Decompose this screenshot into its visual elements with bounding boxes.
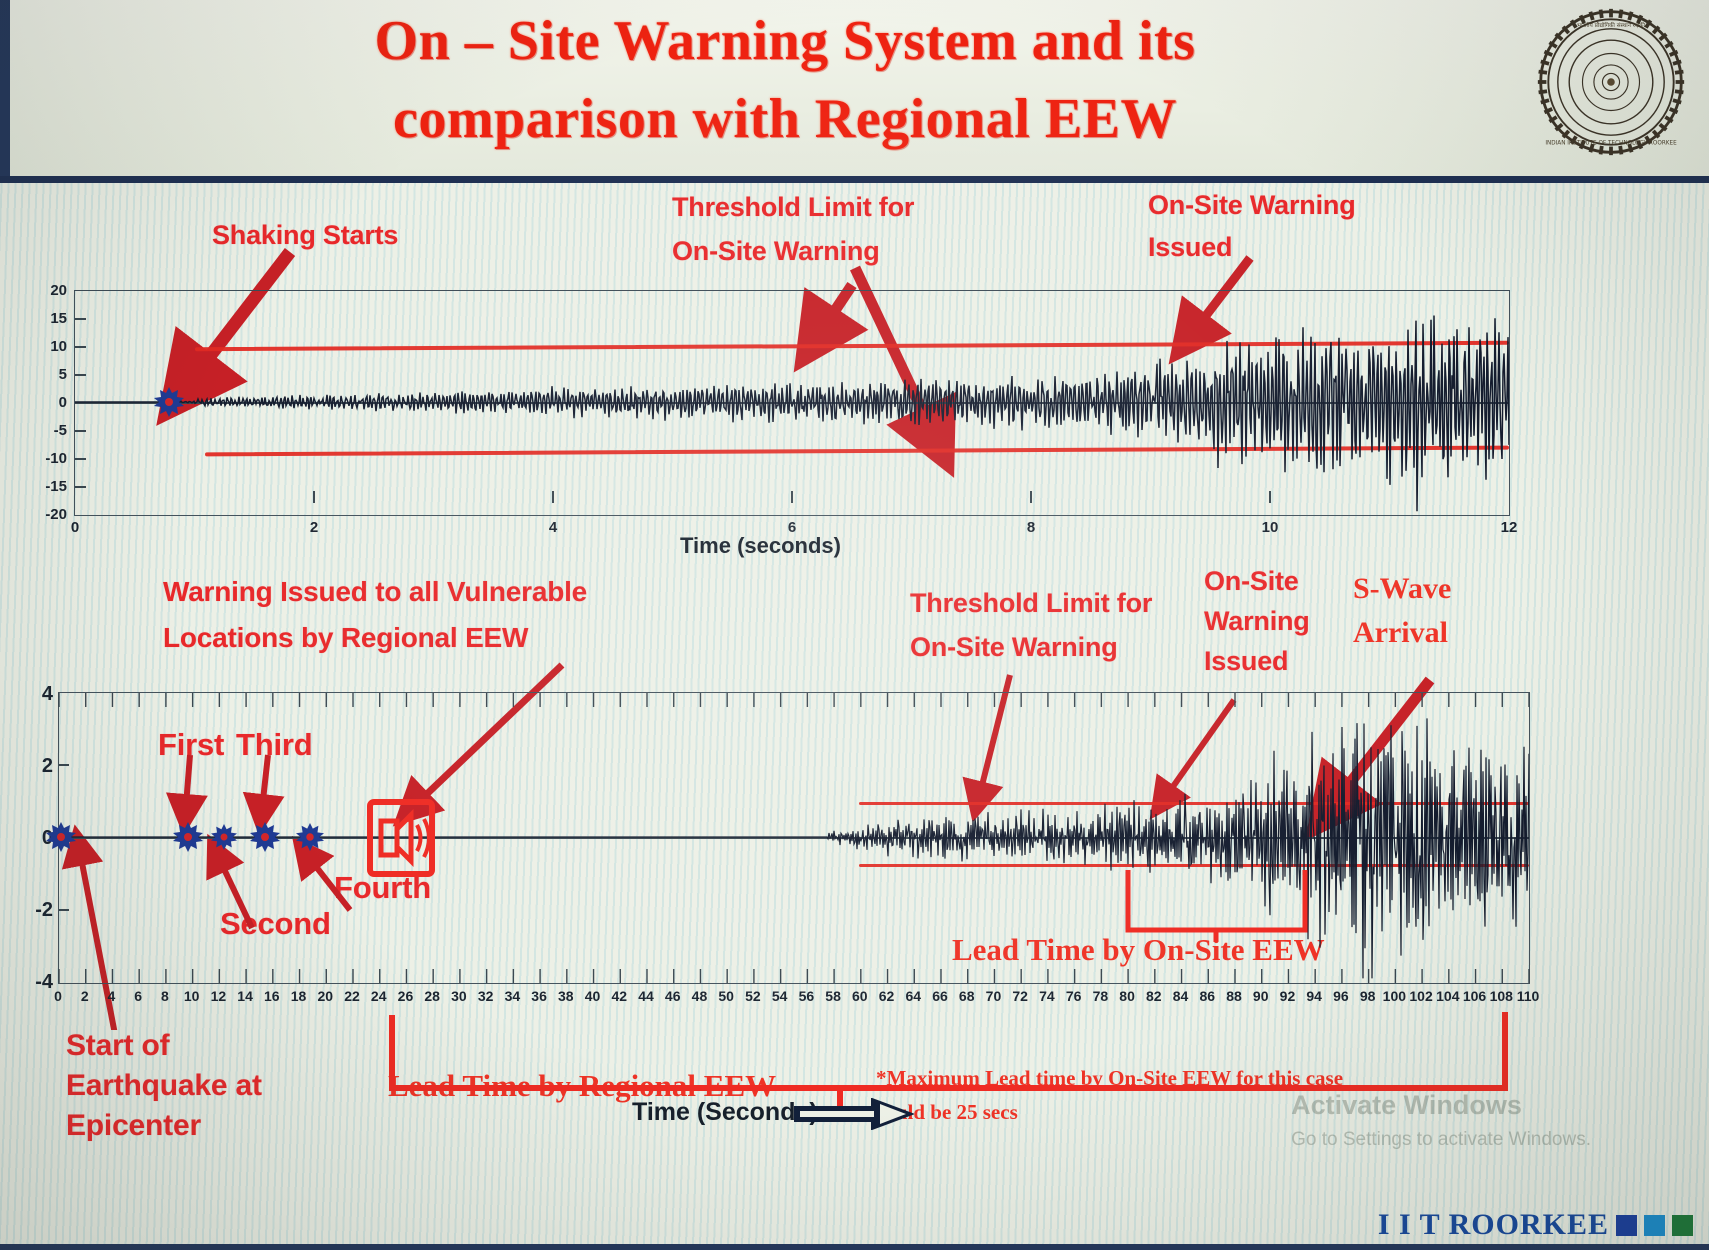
- lead-time-bracket-layer: [0, 830, 1709, 1130]
- slide-bottom-bar: [0, 1244, 1709, 1250]
- bottom-ytick-2: 2: [27, 755, 53, 778]
- institute-footer-brand: I I T ROORKEE: [1378, 1208, 1693, 1242]
- title-line-1: On – Site Warning System and its: [190, 2, 1380, 80]
- top-chart-x-ticks: [75, 501, 1509, 515]
- svg-text:INDIAN INSTITUTE OF TECHNOLOGY: INDIAN INSTITUTE OF TECHNOLOGY ROORKEE: [1545, 141, 1677, 147]
- xtick-0: 0: [61, 519, 89, 536]
- ytick-10: 10: [29, 338, 67, 355]
- slide-canvas: On – Site Warning System and its compari…: [0, 0, 1709, 1250]
- top-chart-waveform: [75, 291, 1509, 515]
- iit-roorkee-seal-icon: भारतीय प्रौद्योगिकी संस्थान रुड़की INDIA…: [1535, 6, 1687, 158]
- brand-label: I I T ROORKEE: [1378, 1208, 1609, 1242]
- svg-text:भारतीय प्रौद्योगिकी संस्थान रु: भारतीय प्रौद्योगिकी संस्थान रुड़की: [1577, 21, 1646, 29]
- brand-square-green: [1672, 1215, 1693, 1236]
- ytick-20: 20: [29, 282, 67, 299]
- slide-page: On – Site Warning System and its compari…: [0, 0, 1709, 1250]
- xtick-10: 10: [1256, 519, 1284, 536]
- marker-shaking-start: [154, 387, 184, 417]
- top-chart-plot-area: 20 15 10 5 0 -5 -10 -15 -20: [74, 290, 1510, 516]
- bottom-ytick-4: 4: [27, 683, 53, 706]
- xtick-12: 12: [1495, 519, 1523, 536]
- page-title: On – Site Warning System and its compari…: [190, 2, 1380, 159]
- title-line-2: comparison with Regional EEW: [190, 80, 1380, 158]
- ytick-15: 15: [29, 310, 67, 327]
- xtick-4: 4: [539, 519, 567, 536]
- ytick-minus5: -5: [25, 422, 67, 439]
- ytick-minus15: -15: [23, 478, 67, 495]
- xtick-2: 2: [300, 519, 328, 536]
- brand-square-blue-light: [1644, 1215, 1665, 1236]
- bracket-lead-time-regional: [392, 1012, 1505, 1088]
- brand-square-blue-dark: [1616, 1215, 1637, 1236]
- header-left-edge: [0, 0, 10, 176]
- xtick-8: 8: [1017, 519, 1045, 536]
- ytick-0: 0: [29, 394, 67, 411]
- bracket-lead-time-onsite: [1128, 870, 1305, 930]
- ytick-minus10: -10: [23, 450, 67, 467]
- ytick-5: 5: [29, 366, 67, 383]
- slide-header: On – Site Warning System and its compari…: [0, 0, 1709, 183]
